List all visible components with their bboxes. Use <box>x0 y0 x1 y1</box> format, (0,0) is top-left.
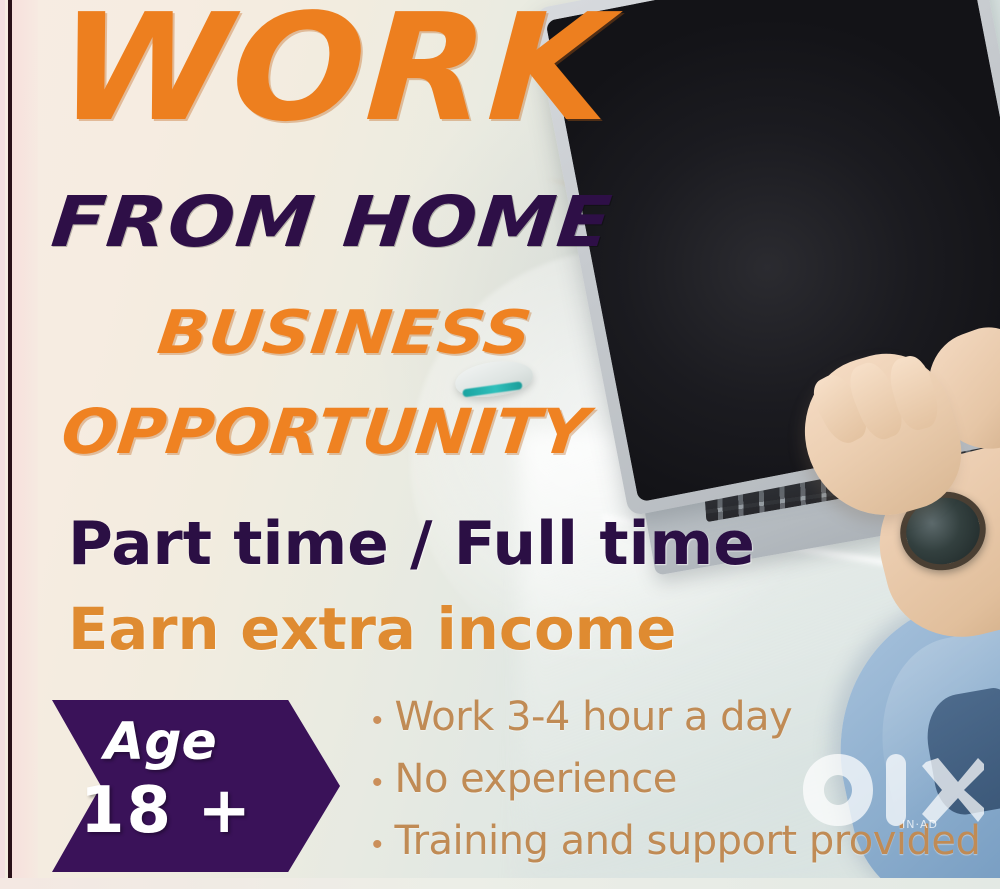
olx-watermark-icon <box>798 748 984 834</box>
list-item: • Work 3-4 hour a day <box>372 694 992 756</box>
olx-watermark-tagline: IN·AD <box>902 818 938 831</box>
bullet-dot-icon: • <box>372 706 383 736</box>
headline-business: BUSINESS <box>154 298 536 368</box>
headline-earn-extra-income: Earn extra income <box>68 595 676 663</box>
headline-work: WORK <box>53 0 616 154</box>
left-edge-tint <box>12 0 38 889</box>
headline-from-home: FROM HOME <box>48 181 616 263</box>
left-edge-dark-rule <box>8 0 12 889</box>
headline-part-time-full-time: Part time / Full time <box>68 509 755 579</box>
benefit-text: No experience <box>395 756 677 802</box>
bullet-dot-icon: • <box>372 830 383 860</box>
benefit-text: Work 3-4 hour a day <box>395 694 793 740</box>
age-badge-label: Age <box>104 712 217 772</box>
poster-canvas: WORK FROM HOME BUSINESS OPPORTUNITY Part… <box>0 0 1000 889</box>
headline-opportunity: OPPORTUNITY <box>58 395 592 468</box>
age-badge-value: 18 + <box>80 774 253 848</box>
bullet-dot-icon: • <box>372 768 383 798</box>
left-edge-outer-rule <box>0 0 5 889</box>
